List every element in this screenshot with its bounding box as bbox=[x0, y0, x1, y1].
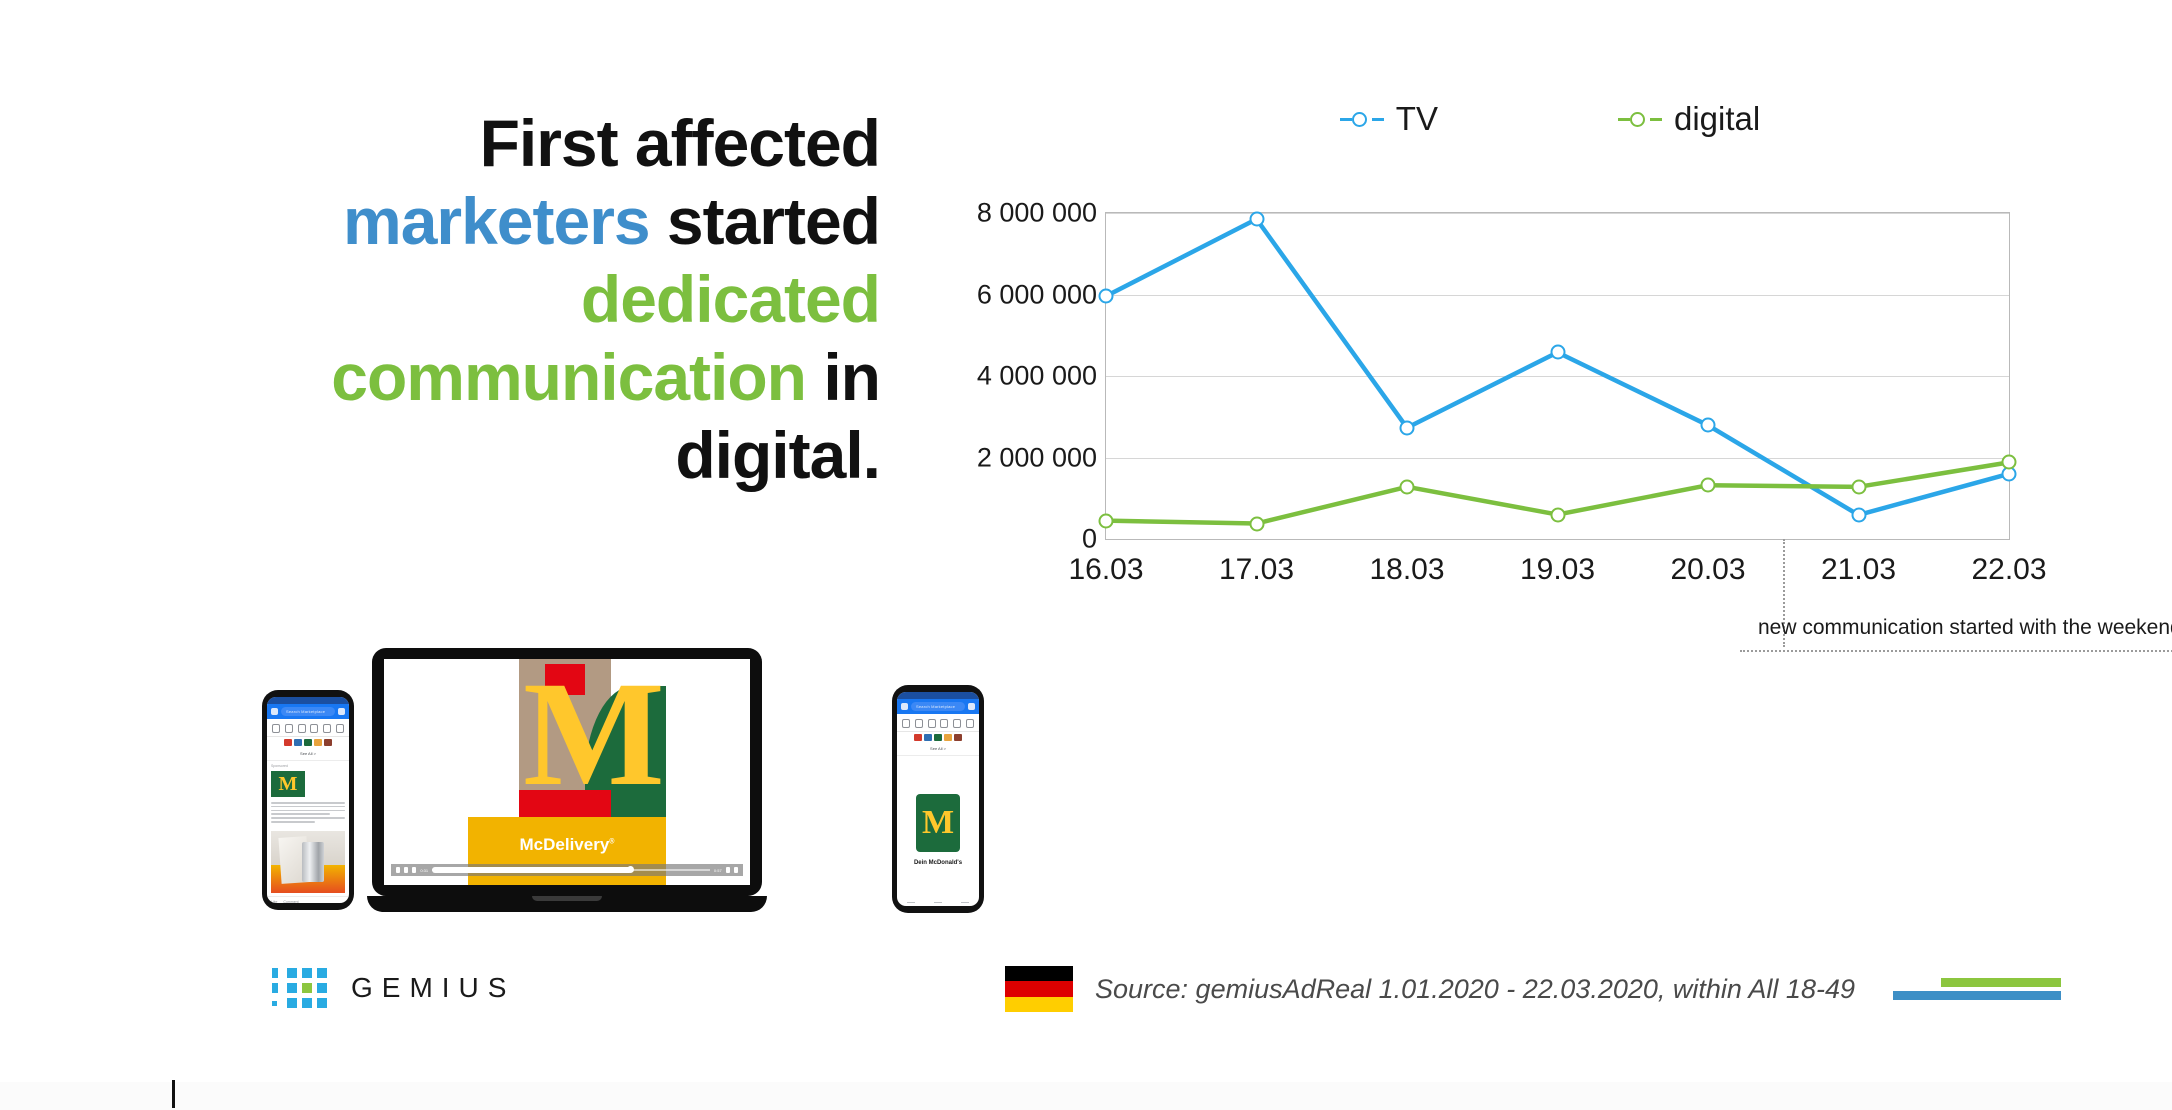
germany-flag-icon bbox=[1005, 966, 1073, 1012]
thumbnail-row bbox=[267, 737, 349, 748]
annotation-text: new communication started with the weeke… bbox=[1758, 616, 2172, 640]
legend-label: digital bbox=[1674, 100, 1760, 138]
thumbnail bbox=[294, 739, 302, 746]
phone-home-indicator bbox=[897, 902, 979, 904]
category-icon bbox=[940, 719, 948, 728]
legend-item-digital[interactable]: digital bbox=[1618, 100, 1760, 138]
status-bar bbox=[897, 692, 979, 699]
x-axis-tick-label: 17.03 bbox=[1219, 553, 1294, 587]
app-promo: M Dein McDonald's bbox=[897, 756, 979, 866]
golden-arches-icon: M bbox=[922, 806, 954, 840]
circle-marker-icon bbox=[1340, 108, 1384, 130]
facebook-marketplace-header: Search Marketplace bbox=[897, 699, 979, 714]
thumbnail bbox=[954, 734, 962, 741]
headline-text: First affected bbox=[480, 106, 880, 180]
y-axis-tick-label: 8 000 000 bbox=[917, 198, 1097, 229]
video-time-current: 0:31 bbox=[420, 868, 428, 873]
volume-icon[interactable] bbox=[726, 867, 730, 873]
data-point-digital[interactable] bbox=[1701, 478, 1716, 493]
legend-item-tv[interactable]: TV bbox=[1340, 100, 1438, 138]
y-axis-tick-label: 4 000 000 bbox=[917, 361, 1097, 392]
series-line-tv bbox=[1106, 219, 2009, 515]
data-point-tv[interactable] bbox=[1851, 507, 1866, 522]
facebook-marketplace-header: Search Marketplace bbox=[267, 704, 349, 719]
thumbnail bbox=[304, 739, 312, 746]
stop-icon[interactable] bbox=[412, 867, 416, 873]
profile-icon bbox=[901, 703, 908, 710]
data-point-tv[interactable] bbox=[1099, 289, 1114, 304]
source-text: Source: gemiusAdReal 1.01.2020 - 22.03.2… bbox=[1095, 974, 1855, 1005]
category-icon bbox=[953, 719, 961, 728]
golden-arches-icon: M bbox=[279, 774, 298, 794]
headline-line-4: communication in bbox=[150, 339, 880, 417]
headline-highlight-blue: marketers bbox=[343, 184, 650, 258]
video-progress-slider[interactable] bbox=[432, 869, 710, 871]
legend-label: TV bbox=[1396, 100, 1438, 138]
app-name-label: Dein McDonald's bbox=[897, 860, 979, 866]
mcdonalds-app-icon[interactable]: M bbox=[916, 794, 960, 852]
thumbnail bbox=[924, 734, 932, 741]
headline-text: in bbox=[806, 340, 880, 414]
category-icon bbox=[285, 724, 293, 733]
search-input[interactable]: Search Marketplace bbox=[911, 702, 965, 711]
headline-text: started bbox=[650, 184, 880, 258]
play-icon[interactable] bbox=[396, 867, 400, 873]
headline-highlight-green: dedicated bbox=[581, 262, 880, 336]
ad-photo bbox=[271, 831, 345, 893]
category-icon bbox=[298, 724, 306, 733]
data-point-tv[interactable] bbox=[1400, 420, 1415, 435]
data-point-digital[interactable] bbox=[1249, 516, 1264, 531]
thumbnail bbox=[284, 739, 292, 746]
headline-line-3: dedicated bbox=[150, 261, 880, 339]
gemius-wordmark: GEMIUS bbox=[351, 972, 515, 1004]
metal-can bbox=[302, 842, 324, 882]
data-point-tv[interactable] bbox=[1701, 418, 1716, 433]
chart-legend: TV digital bbox=[1020, 100, 2080, 138]
category-icon bbox=[902, 719, 910, 728]
category-icon bbox=[928, 719, 936, 728]
phone-mockup-right: Search Marketplace bbox=[892, 685, 984, 913]
profile-icon bbox=[271, 708, 278, 715]
status-bar bbox=[267, 697, 349, 704]
registered-mark: ® bbox=[609, 839, 614, 846]
mcdonalds-logo: M bbox=[271, 771, 305, 797]
thumbnail bbox=[944, 734, 952, 741]
gemius-dot-grid-icon bbox=[272, 968, 327, 1008]
ad-copy-text bbox=[267, 799, 349, 828]
x-axis-tick-label: 20.03 bbox=[1670, 553, 1745, 587]
thumbnail-row bbox=[897, 732, 979, 743]
category-icon bbox=[966, 719, 974, 728]
source-footer: Source: gemiusAdReal 1.01.2020 - 22.03.2… bbox=[1005, 966, 2061, 1012]
laptop-body: M McDelivery® 0:31 0:57 bbox=[372, 648, 762, 896]
device-mockups: Search Marketplace bbox=[240, 640, 1030, 930]
post-actions[interactable]: Like Comment bbox=[267, 896, 349, 903]
thumbnail bbox=[914, 734, 922, 741]
like-button[interactable]: Like bbox=[271, 900, 277, 903]
thumbnail bbox=[324, 739, 332, 746]
category-icon bbox=[272, 724, 280, 733]
headline-line-5: digital. bbox=[150, 417, 880, 495]
laptop-mockup: M McDelivery® 0:31 0:57 bbox=[372, 648, 772, 920]
gemius-logo: GEMIUS bbox=[272, 968, 515, 1008]
bottom-strip bbox=[0, 1082, 2172, 1110]
x-axis-tick-label: 19.03 bbox=[1520, 553, 1595, 587]
page-title: First affected marketers started dedicat… bbox=[150, 105, 880, 494]
video-controls[interactable]: 0:31 0:57 bbox=[391, 864, 742, 876]
see-all-link[interactable]: See All > bbox=[897, 743, 979, 756]
headline-highlight-green: communication bbox=[331, 340, 806, 414]
text-cursor bbox=[172, 1080, 175, 1108]
video-time-total: 0:57 bbox=[714, 868, 722, 873]
see-all-link[interactable]: See All > bbox=[267, 748, 349, 761]
plot-area: 02 000 0004 000 0006 000 0008 000 00016.… bbox=[1105, 212, 2010, 540]
data-point-digital[interactable] bbox=[1099, 513, 1114, 528]
gear-icon bbox=[338, 708, 345, 715]
chart-annotation: new communication started with the weeke… bbox=[1740, 532, 2172, 652]
sponsored-label: Sponsored bbox=[267, 761, 349, 769]
category-icon bbox=[915, 719, 923, 728]
slide: First affected marketers started dedicat… bbox=[0, 0, 2172, 1110]
x-axis-tick-label: 18.03 bbox=[1369, 553, 1444, 587]
video-caption-text: McDelivery bbox=[520, 835, 610, 854]
laptop-base bbox=[367, 896, 767, 912]
data-point-tv[interactable] bbox=[1550, 345, 1565, 360]
headline-text: digital. bbox=[675, 418, 880, 492]
data-point-digital[interactable] bbox=[1851, 479, 1866, 494]
phone-mockup-left: Search Marketplace bbox=[262, 690, 354, 910]
data-point-digital[interactable] bbox=[1400, 479, 1415, 494]
category-icon bbox=[323, 724, 331, 733]
headline-line-1: First affected bbox=[150, 105, 880, 183]
y-axis-tick-label: 0 bbox=[917, 524, 1097, 555]
search-input[interactable]: Search Marketplace bbox=[281, 707, 335, 716]
chart-lines bbox=[1106, 213, 2009, 539]
video-caption: McDelivery® bbox=[468, 835, 666, 855]
phone-screen-facebook-ad: Search Marketplace bbox=[267, 697, 349, 903]
comment-button[interactable]: Comment bbox=[283, 900, 298, 903]
phone-screen-app: Search Marketplace bbox=[897, 692, 979, 906]
golden-arches-icon: M bbox=[523, 677, 607, 813]
x-axis-tick-label: 16.03 bbox=[1068, 553, 1143, 587]
circle-marker-icon bbox=[1618, 108, 1662, 130]
data-point-tv[interactable] bbox=[1249, 212, 1264, 227]
y-axis-tick-label: 6 000 000 bbox=[917, 279, 1097, 310]
pause-icon[interactable] bbox=[404, 867, 408, 873]
data-point-digital[interactable] bbox=[1550, 507, 1565, 522]
data-point-digital[interactable] bbox=[2002, 455, 2017, 470]
category-icon bbox=[336, 724, 344, 733]
thumbnail bbox=[934, 734, 942, 741]
category-icon-row bbox=[897, 714, 979, 732]
laptop-screen-video: M McDelivery® 0:31 0:57 bbox=[384, 659, 750, 885]
thumbnail bbox=[314, 739, 322, 746]
category-icon bbox=[310, 724, 318, 733]
brand-bars-logo bbox=[1893, 978, 2061, 1000]
chart: TV digital 02 000 0004 000 0006 000 0008… bbox=[980, 100, 2080, 720]
fullscreen-icon[interactable] bbox=[734, 867, 738, 873]
headline-line-2: marketers started bbox=[150, 183, 880, 261]
gear-icon bbox=[968, 703, 975, 710]
category-icon-row bbox=[267, 719, 349, 737]
y-axis-tick-label: 2 000 000 bbox=[917, 442, 1097, 473]
